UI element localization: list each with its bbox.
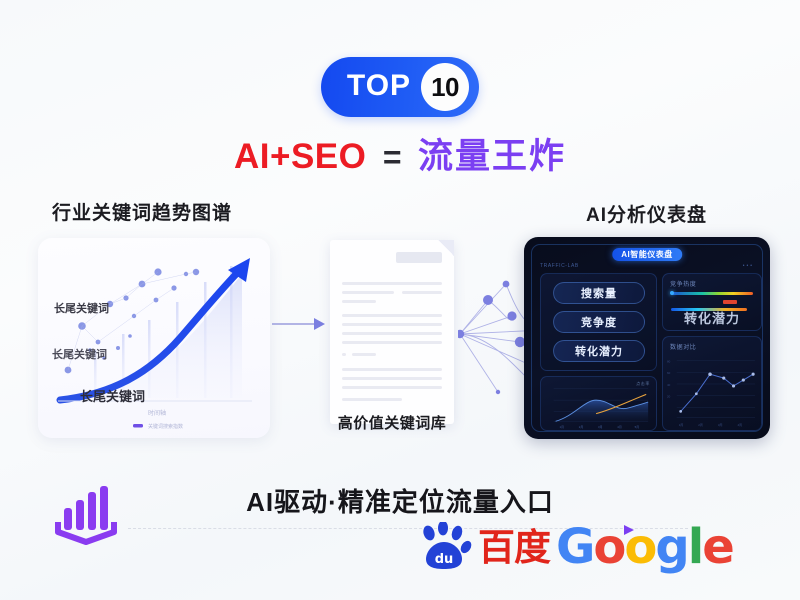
google-letter-e: e	[702, 519, 733, 575]
trend-keyword-label-3: 长尾关键词	[80, 386, 145, 405]
svg-text:1周: 1周	[679, 422, 684, 427]
baidu-paw-text: du	[435, 552, 454, 567]
meter-marker-primary	[670, 291, 674, 295]
baidu-wordmark: 百度	[478, 529, 550, 566]
area-legend-a: 点击率	[636, 381, 650, 387]
svg-text:4周: 4周	[737, 422, 742, 427]
main-headline: AI+SEO = 流量王炸	[0, 128, 800, 179]
google-letter-l: l	[688, 519, 702, 575]
keyword-trend-card: 长尾关键词 长尾关键词 长尾关键词 时间轴 关键词搜索指数	[38, 238, 270, 438]
play-triangle-icon	[622, 524, 636, 536]
headline-operator: =	[383, 139, 402, 175]
svg-text:2月: 2月	[579, 425, 584, 429]
top-rank-badge: TOP 10	[0, 57, 800, 117]
svg-text:3周: 3周	[718, 422, 723, 427]
dashboard-title-pill: AI智能仪表盘	[612, 248, 682, 261]
right-section-title: AI分析仪表盘	[586, 200, 707, 227]
svg-text:5月: 5月	[635, 425, 640, 429]
badge-label: TOP	[347, 71, 411, 103]
trend-keyword-label-2: 长尾关键词	[52, 346, 107, 362]
ai-dashboard: AI智能仪表盘 TRAFFIC-LAB ••• 搜索量 竞争度 转化潜力	[524, 237, 770, 439]
badge-pill: TOP 10	[321, 57, 479, 117]
meter-panel-label: 竞争热度	[670, 279, 696, 288]
google-wordmark: Google	[556, 523, 733, 571]
meter-overlay-text: 转化潜力	[663, 308, 761, 327]
google-letter-g2: g	[655, 519, 687, 575]
trend-keyword-label-1: 长尾关键词	[54, 300, 109, 316]
google-letter-g1: G	[556, 519, 593, 575]
dashboard-screen: AI智能仪表盘 TRAFFIC-LAB ••• 搜索量 竞争度 转化潜力	[531, 244, 763, 432]
meter-alert-tag	[723, 300, 737, 304]
google-letter-o1: o	[593, 519, 624, 575]
metric-pill-competition[interactable]: 竞争度	[553, 311, 645, 333]
svg-text:80: 80	[667, 359, 671, 363]
dashboard-menu-icon[interactable]: •••	[743, 263, 754, 269]
svg-text:40: 40	[667, 383, 671, 387]
document-caption: 高价值关键词库	[324, 412, 460, 433]
line-chart-panel: 数据对比 8060 4020 1周2周 3周	[662, 336, 762, 431]
trend-legend-text: 关键词搜索指数	[148, 423, 183, 430]
svg-text:1月: 1月	[559, 425, 564, 429]
footer-title: AI驱动·精准定位流量入口	[0, 482, 800, 519]
svg-text:60: 60	[667, 371, 671, 375]
keyword-library-document: 高价值关键词库	[324, 240, 460, 440]
trend-axis-note: 时间轴	[148, 408, 166, 417]
headline-left: AI+SEO	[234, 137, 366, 176]
badge-rank-circle: 10	[421, 63, 469, 111]
svg-text:2周: 2周	[698, 422, 703, 427]
metric-pill-conversion[interactable]: 转化潜力	[553, 340, 645, 362]
document-header-block	[396, 252, 442, 263]
area-chart-panel: 1月2月 3月4月 5月 点击率	[540, 376, 657, 431]
svg-text:4月: 4月	[617, 425, 622, 429]
competition-meter-panel: 竞争热度 转化潜力	[662, 273, 762, 331]
svg-text:20: 20	[667, 395, 671, 399]
left-section-title: 行业关键词趋势图谱	[52, 198, 232, 225]
headline-right: 流量王炸	[418, 137, 566, 176]
partner-logos: du 百度 Google	[418, 522, 733, 572]
dashboard-brand: TRAFFIC-LAB	[540, 263, 579, 269]
baidu-paw-icon: du	[418, 522, 472, 572]
metric-pills-panel: 搜索量 竞争度 转化潜力	[540, 273, 657, 371]
line-chart-svg: 8060 4020 1周2周 3周4周	[663, 337, 761, 430]
svg-text:3月: 3月	[598, 425, 603, 429]
flow-arrow-right-icon	[272, 316, 326, 332]
meter-bar-primary	[671, 292, 753, 295]
document-page	[330, 240, 454, 424]
metric-pill-search-volume[interactable]: 搜索量	[553, 282, 645, 304]
